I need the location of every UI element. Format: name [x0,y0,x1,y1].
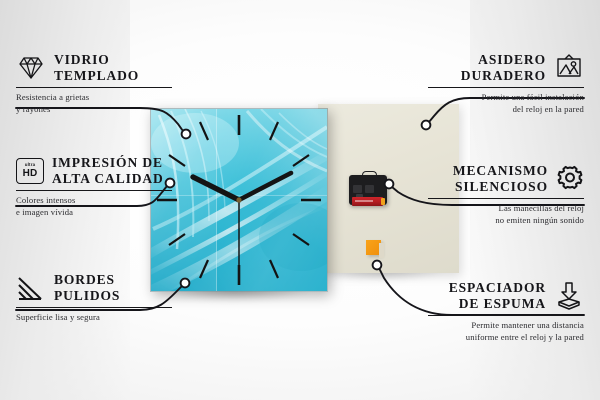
infographic-canvas: VIDRIO TEMPLADO Resistencia a grietas y … [0,0,600,400]
feature-title: ESPACIADOR DE ESPUMA [449,280,546,312]
feature-rule [16,190,172,191]
picture-hanger-icon [554,54,584,82]
feature-impresion-alta-calidad: ultra HD IMPRESIÓN DE ALTA CALIDAD Color… [16,155,172,219]
feature-mecanismo-silencioso: MECANISMO SILENCIOSO Las manecillas del … [428,163,584,227]
feature-description: Permite mantener una distancia uniforme … [428,319,584,343]
feature-rule [428,315,584,316]
feature-title: MECANISMO SILENCIOSO [453,163,548,195]
feature-asidero-duradero: ASIDERO DURADERO Permite una fácil insta… [428,52,584,116]
feature-description: Las manecillas del reloj no emiten ningú… [428,202,584,226]
feature-description: Resistencia a grietas y rayones [16,91,172,115]
connector-dot-vidrio [182,130,191,139]
ultra-hd-badge-icon: ultra HD [16,158,44,184]
gear-icon [556,165,584,193]
feature-rule [428,87,584,88]
feature-rule [428,198,584,199]
foam-spacer-icon [554,282,584,310]
connector-dot-mecanismo [385,180,394,189]
connector-dot-bordes [181,279,190,288]
feature-description: Colores intensos e imagen vívida [16,194,172,218]
feature-title: BORDES PULIDOS [54,272,120,304]
polished-edges-icon [16,275,46,301]
feature-rule [16,307,172,308]
feature-description: Superficie lisa y segura [16,311,172,323]
feature-title: VIDRIO TEMPLADO [54,52,139,84]
feature-title: ASIDERO DURADERO [461,52,546,84]
feature-espaciador-espuma: ESPACIADOR DE ESPUMA Permite mantener un… [428,280,584,344]
feature-vidrio-templado: VIDRIO TEMPLADO Resistencia a grietas y … [16,52,172,116]
feature-title: IMPRESIÓN DE ALTA CALIDAD [52,155,164,187]
feature-description: Permite una fácil instalación del reloj … [428,91,584,115]
feature-rule [16,87,172,88]
connector-dot-asidero [422,121,431,130]
feature-bordes-pulidos: BORDES PULIDOS Superficie lisa y segura [16,272,172,323]
connector-dot-espaciador [373,261,382,270]
diamond-icon [16,55,46,81]
